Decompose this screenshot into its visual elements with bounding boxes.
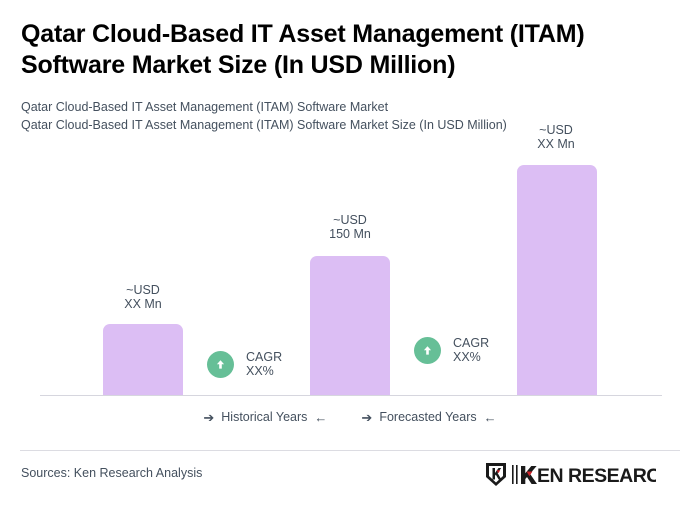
cagr-badge-2: CAGR XX% (414, 336, 489, 364)
bar-value-currency-2: ~USD (290, 213, 410, 227)
period-label-historical: Historical Years (221, 410, 307, 424)
sources-text: Sources: Ken Research Analysis (21, 466, 202, 480)
bar-value-amount-3: XX Mn (496, 137, 616, 151)
bar-historical-year[interactable] (103, 324, 183, 395)
arrow-left-icon-forecasted: ← (484, 411, 497, 424)
bar-value-currency-1: ~USD (83, 283, 203, 297)
ken-research-logo: EN RESEARCH (484, 462, 656, 488)
logo-wordmark: EN RESEARCH (537, 465, 656, 487)
bar-base-year[interactable] (310, 256, 390, 395)
period-forecasted-years: ➔ Forecasted Years ← (361, 410, 496, 424)
cagr-value-2: XX% (453, 350, 489, 364)
cagr-text-2: CAGR XX% (453, 336, 489, 364)
cagr-badge-1: CAGR XX% (207, 350, 282, 378)
axis-baseline (40, 395, 662, 396)
cagr-up-arrow-icon-2 (414, 337, 441, 364)
bar-value-label-2: ~USD 150 Mn (290, 213, 410, 241)
cagr-up-arrow-icon-1 (207, 351, 234, 378)
slide-canvas: Qatar Cloud-Based IT Asset Management (I… (0, 0, 700, 520)
cagr-value-1: XX% (246, 364, 282, 378)
bar-value-label-1: ~USD XX Mn (83, 283, 203, 311)
cagr-text-1: CAGR XX% (246, 350, 282, 378)
period-legend: ➔ Historical Years ← ➔ Forecasted Years … (0, 410, 700, 424)
period-label-forecasted: Forecasted Years (379, 410, 476, 424)
bar-value-amount-2: 150 Mn (290, 227, 410, 241)
cagr-label-2: CAGR (453, 336, 489, 350)
arrow-left-icon-historical: ← (314, 411, 327, 424)
arrow-right-icon-forecasted: ➔ (361, 411, 372, 424)
cagr-label-1: CAGR (246, 350, 282, 364)
bar-chart-plot: ~USD XX Mn ~USD 150 Mn ~USD XX Mn CAGR X… (0, 0, 700, 400)
period-historical-years: ➔ Historical Years ← (203, 410, 327, 424)
arrow-right-icon-historical: ➔ (203, 411, 214, 424)
bar-value-amount-1: XX Mn (83, 297, 203, 311)
bar-value-label-3: ~USD XX Mn (496, 123, 616, 151)
bar-value-currency-3: ~USD (496, 123, 616, 137)
footer-divider (20, 450, 680, 451)
bar-forecasted-year[interactable] (517, 165, 597, 395)
